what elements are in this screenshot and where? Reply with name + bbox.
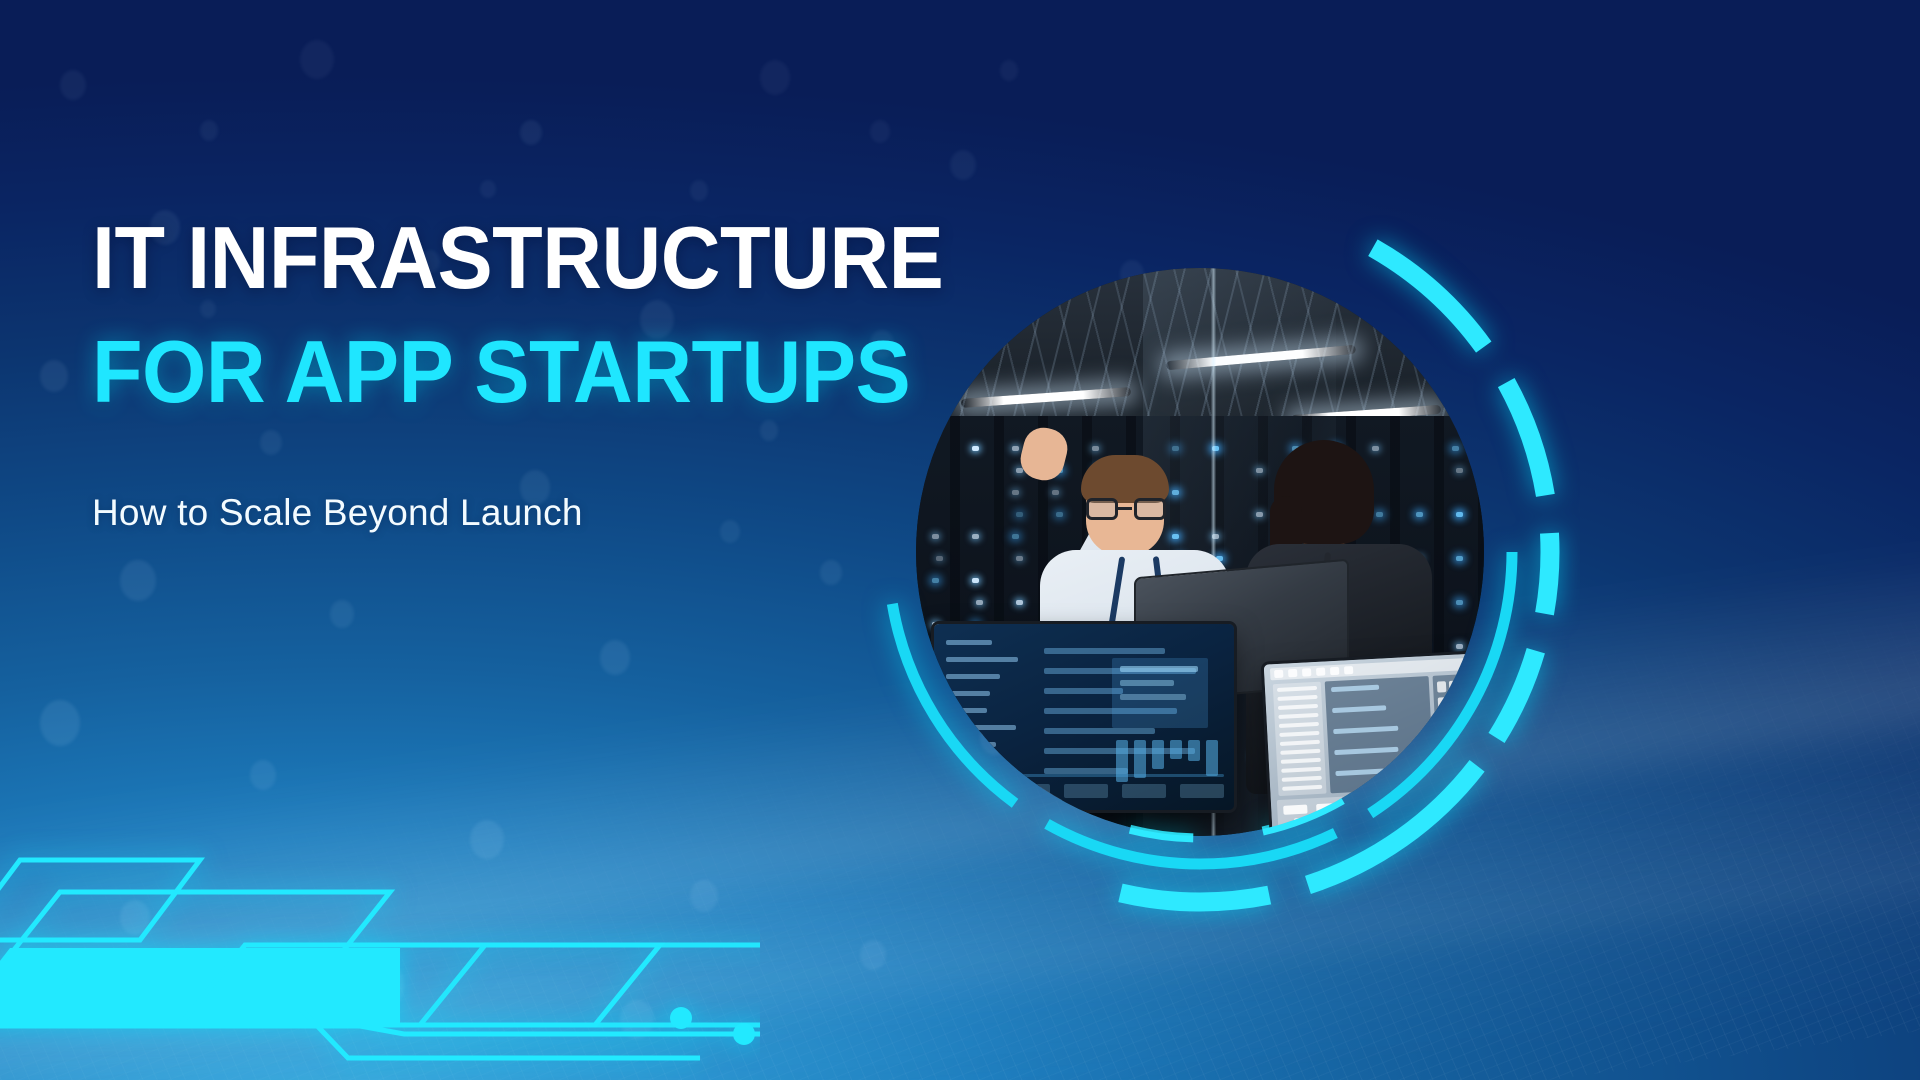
ui-element [1288, 669, 1297, 677]
ui-element [946, 674, 1000, 679]
ui-element [946, 657, 1018, 662]
rack-led [972, 578, 979, 583]
ui-element [1439, 713, 1449, 724]
ui-element [948, 784, 992, 798]
ui-element [944, 774, 1224, 777]
ui-element [1120, 680, 1174, 686]
ui-element [1134, 740, 1146, 778]
ui-element [1475, 727, 1484, 738]
ui-element [1451, 712, 1461, 723]
rack-led [1012, 446, 1019, 451]
ui-element [1474, 711, 1484, 722]
rack-led [1452, 446, 1459, 451]
ui-element [946, 640, 992, 645]
rack-led [1016, 512, 1023, 517]
angled-speed-bars [0, 820, 760, 1080]
light-dot [690, 880, 718, 912]
photo-data-center [916, 268, 1484, 836]
rack-led [936, 556, 943, 561]
rack-led [932, 578, 939, 583]
light-dot [860, 940, 886, 970]
rack-led [976, 600, 983, 605]
rack-led [1376, 512, 1383, 517]
ui-element [1382, 813, 1404, 822]
ui-element [946, 691, 990, 696]
ui-element [1436, 747, 1484, 788]
light-dot [40, 700, 80, 746]
ui-element [1188, 740, 1200, 761]
ui-element [1302, 668, 1311, 676]
light-dot [60, 70, 86, 100]
ui-element [1438, 697, 1448, 708]
ui-element [1439, 729, 1449, 740]
eyeglasses [1086, 498, 1166, 520]
ui-element [1294, 817, 1316, 826]
rack-led [1456, 512, 1463, 517]
ui-element [1152, 740, 1164, 769]
ui-element [1316, 803, 1340, 813]
ui-element [946, 759, 1000, 764]
rack-led [1052, 490, 1059, 495]
rack-led [1016, 556, 1023, 561]
ui-element [1462, 696, 1472, 707]
ui-element [1473, 679, 1483, 690]
ui-element [1474, 695, 1484, 706]
ui-element [1461, 680, 1471, 691]
rack-led [932, 534, 939, 539]
rack-led [1456, 644, 1463, 649]
ui-element [1426, 810, 1448, 819]
ui-element [1180, 784, 1224, 798]
rack-led [1456, 468, 1463, 473]
light-dot [760, 60, 790, 95]
ui-element [1338, 815, 1360, 824]
rack-led [1012, 534, 1019, 539]
ui-element [1449, 681, 1459, 692]
rack-led [1012, 490, 1019, 495]
ui-element [1274, 670, 1283, 678]
ui-element [1462, 712, 1472, 723]
rack-led [972, 446, 979, 451]
rack-led [1016, 600, 1023, 605]
headline-line-1: IT INFRASTRUCTURE [92, 214, 938, 302]
light-dot [620, 1000, 654, 1039]
ui-element [1206, 740, 1218, 776]
rack-led [1416, 512, 1423, 517]
rack-led [972, 534, 979, 539]
ui-element [1451, 728, 1461, 739]
analytics-monitor [1264, 652, 1484, 835]
rack-led [1092, 446, 1099, 451]
light-dot [300, 40, 334, 79]
ui-element [1064, 784, 1108, 798]
light-dot [600, 640, 630, 675]
hair [1081, 455, 1169, 503]
ui-element [1330, 667, 1339, 675]
light-dot [470, 820, 504, 859]
ui-element [1120, 666, 1198, 672]
light-dot [1000, 60, 1018, 81]
ui-element [1044, 728, 1155, 734]
headline-line-2: FOR APP STARTUPS [92, 328, 938, 416]
hero-banner: IT INFRASTRUCTURE FOR APP STARTUPS How t… [0, 0, 1920, 1080]
light-dot [360, 960, 404, 1011]
light-dot [200, 120, 218, 141]
ui-element [946, 708, 987, 713]
ui-element [946, 725, 1016, 730]
ui-element [1006, 784, 1050, 798]
light-dot [120, 560, 156, 601]
light-dot [480, 180, 496, 198]
rack-led [1456, 600, 1463, 605]
ui-element [1437, 681, 1447, 692]
ui-element [1382, 799, 1406, 809]
ui-element [1450, 697, 1460, 708]
ui-element [1120, 694, 1186, 700]
light-dot [330, 600, 354, 628]
ui-element [1463, 728, 1473, 739]
ui-element [1044, 648, 1165, 654]
ui-element [1470, 808, 1484, 817]
light-dot [870, 120, 890, 143]
light-dot [40, 360, 68, 392]
ui-element [1344, 666, 1353, 674]
ui-element [1170, 740, 1182, 759]
ui-element [1415, 798, 1439, 808]
rack-led [1372, 446, 1379, 451]
ui-element [1044, 688, 1123, 694]
rack-led [1456, 556, 1463, 561]
dashboard-monitor [934, 624, 1234, 810]
light-dot [520, 120, 542, 145]
rack-led [1056, 512, 1063, 517]
circular-photo-frame [820, 172, 1580, 932]
ui-element [1122, 784, 1166, 798]
ui-element [1349, 801, 1373, 811]
light-dot [120, 900, 150, 935]
ui-element [946, 742, 996, 747]
ui-element [1481, 794, 1484, 804]
light-dot [250, 760, 276, 790]
ui-element [1283, 805, 1307, 815]
ui-element [1448, 796, 1472, 806]
ui-element [1316, 667, 1325, 675]
light-dot [690, 180, 708, 201]
